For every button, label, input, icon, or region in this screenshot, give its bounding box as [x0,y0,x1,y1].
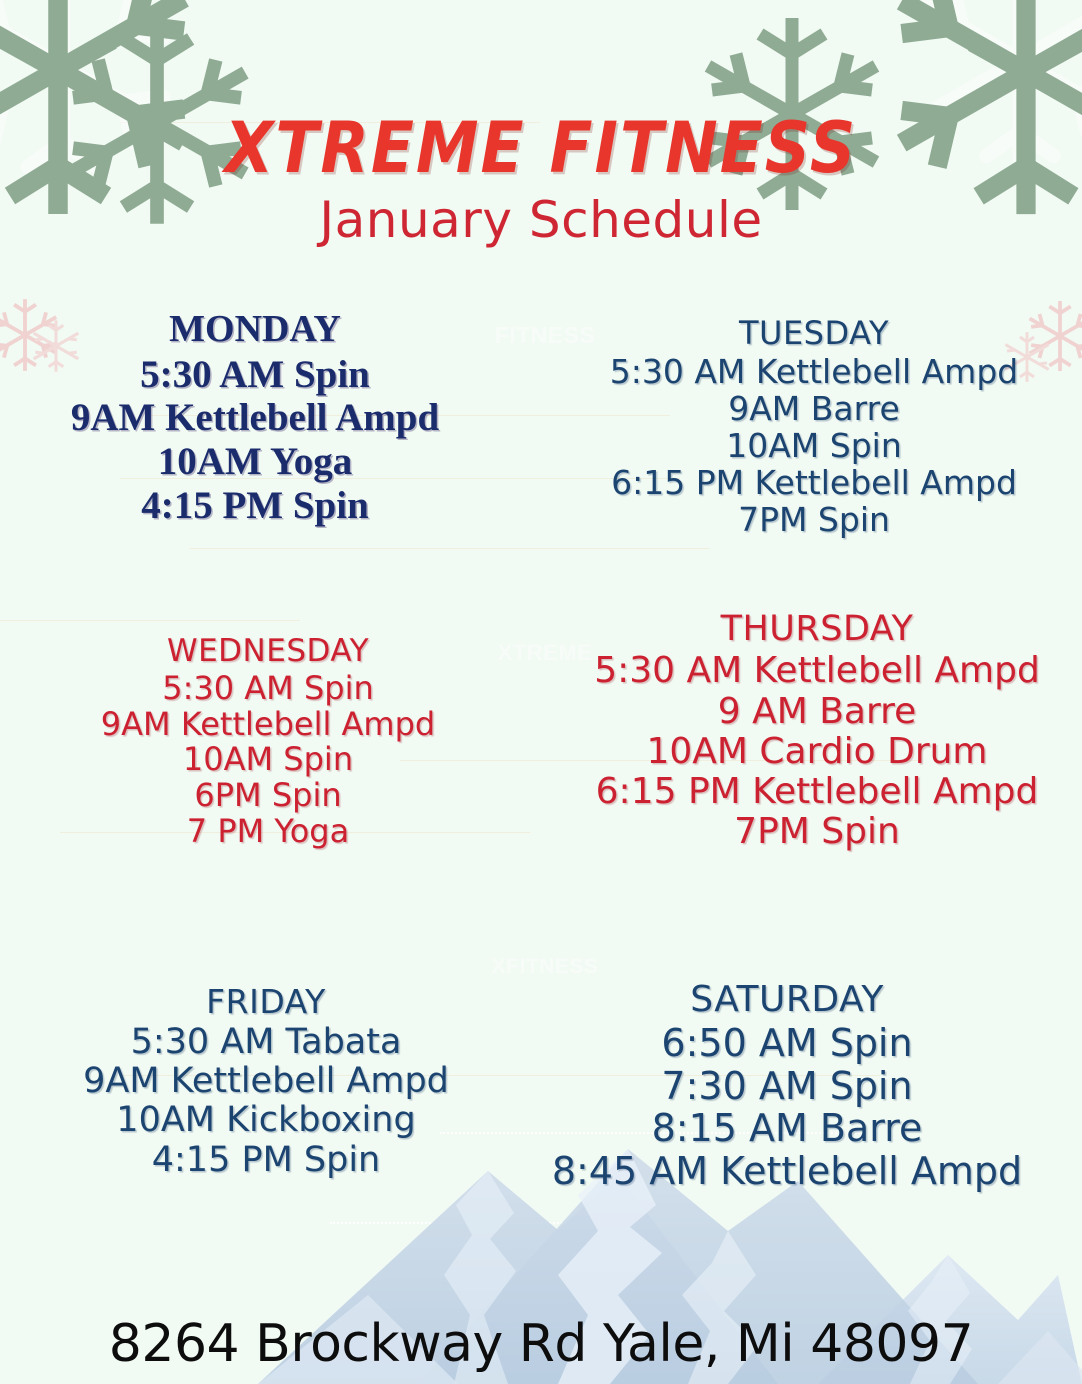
class-item: 7 PM Yoga [18,814,518,850]
day-name-saturday: SATURDAY [492,980,1082,1020]
class-item: 7PM Spin [552,812,1082,852]
class-item: 9AM Kettlebell Ampd [0,396,510,440]
class-item: 9AM Barre [546,391,1082,428]
brand-title: XTREME FITNESS [0,0,1082,183]
class-item: 10AM Cardio Drum [552,732,1082,772]
day-block-saturday: SATURDAY 6:50 AM Spin 7:30 AM Spin 8:15 … [492,980,1082,1193]
day-name-thursday: THURSDAY [552,610,1082,649]
class-item: 5:30 AM Spin [0,353,510,397]
class-item: 9 AM Barre [552,692,1082,732]
class-item: 10AM Spin [18,742,518,778]
class-item: 10AM Kickboxing [16,1101,516,1140]
class-item: 5:30 AM Tabata [16,1023,516,1062]
class-item: 7:30 AM Spin [492,1065,1082,1108]
rule-line-dotted [330,1222,710,1225]
class-item: 9AM Kettlebell Ampd [18,707,518,743]
day-block-monday: MONDAY 5:30 AM Spin 9AM Kettlebell Ampd … [0,308,510,527]
class-item: 5:30 AM Spin [18,671,518,707]
rule-line [0,620,300,621]
class-item: 8:45 AM Kettlebell Ampd [492,1150,1082,1193]
day-name-wednesday: WEDNESDAY [18,634,518,669]
day-block-wednesday: WEDNESDAY 5:30 AM Spin 9AM Kettlebell Am… [18,634,518,850]
class-item: 5:30 AM Kettlebell Ampd [552,651,1082,691]
class-item: 6:15 PM Kettlebell Ampd [552,772,1082,812]
class-item: 4:15 PM Spin [16,1141,516,1180]
flyer-header: XTREME FITNESS January Schedule [0,0,1082,245]
class-item: 6:50 AM Spin [492,1022,1082,1065]
class-item: 6PM Spin [18,778,518,814]
day-block-friday: FRIDAY 5:30 AM Tabata 9AM Kettlebell Amp… [16,984,516,1180]
flyer-canvas: FITNESS XTREME XFITNESS XTREME FITNESS J… [0,0,1082,1384]
class-item: 4:15 PM Spin [0,484,510,528]
day-name-monday: MONDAY [0,308,510,351]
day-block-thursday: THURSDAY 5:30 AM Kettlebell Ampd 9 AM Ba… [552,610,1082,853]
class-item: 9AM Kettlebell Ampd [16,1062,516,1101]
class-item: 8:15 AM Barre [492,1107,1082,1150]
class-item: 7PM Spin [546,502,1082,539]
rule-line [190,548,710,549]
day-name-friday: FRIDAY [16,984,516,1021]
class-item: 6:15 PM Kettlebell Ampd [546,465,1082,502]
class-item: 10AM Spin [546,428,1082,465]
day-block-tuesday: TUESDAY 5:30 AM Kettlebell Ampd 9AM Barr… [546,316,1082,539]
class-item: 5:30 AM Kettlebell Ampd [546,354,1082,391]
gym-address: 8264 Brockway Rd Yale, Mi 48097 [0,1318,1082,1370]
class-item: 10AM Yoga [0,440,510,484]
day-name-tuesday: TUESDAY [546,316,1082,352]
watermark-text: XFITNESS [470,955,620,979]
